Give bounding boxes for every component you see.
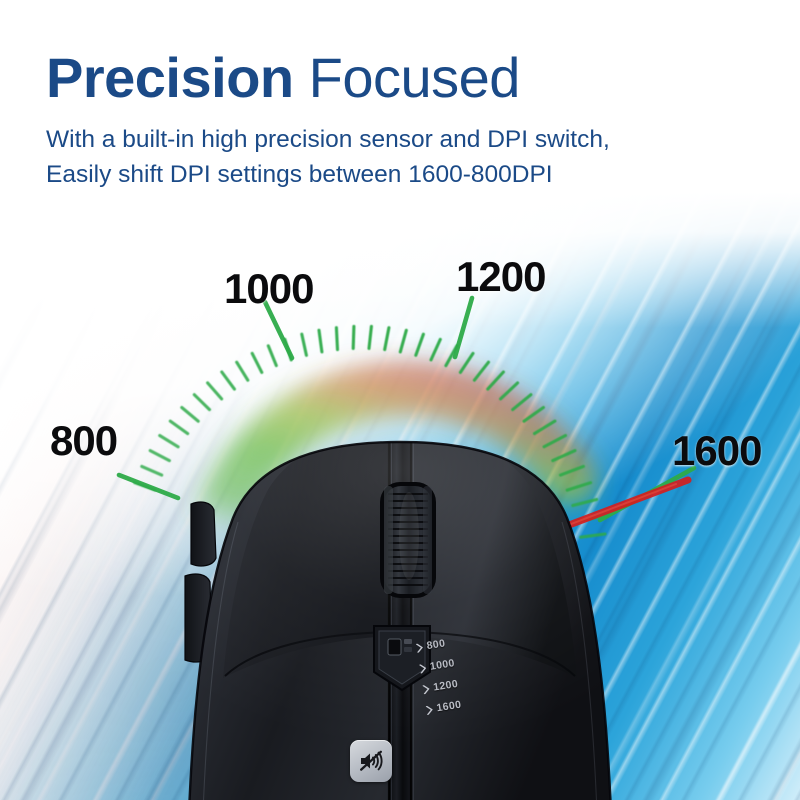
- gauge-major-tick-1200: [455, 298, 472, 357]
- gauge-label-1600: 1600: [672, 430, 761, 472]
- header-copy-block: Precision Focused With a built-in high p…: [46, 48, 766, 193]
- subtitle-block: With a built-in high precision sensor an…: [46, 123, 766, 193]
- mouse-shell: [175, 440, 625, 800]
- dpi-scale-label: 1000: [429, 657, 456, 673]
- headline-light: Focused: [294, 46, 520, 109]
- chevron-right-icon: [415, 642, 423, 652]
- mute-speaker-icon: [358, 748, 384, 774]
- scroll-wheel: [380, 482, 436, 598]
- dpi-scale-step-1200: 1200: [422, 678, 459, 695]
- subtitle-line-2: Easily shift DPI settings between 1600-8…: [46, 158, 766, 193]
- dpi-scale-label: 800: [426, 637, 446, 652]
- chevron-right-icon: [419, 663, 427, 673]
- page-title: Precision Focused: [46, 48, 766, 107]
- chevron-right-icon: [422, 684, 430, 694]
- gauge-major-tick-800: [119, 475, 178, 498]
- wireless-mouse-product-image: [175, 440, 625, 800]
- side-button-forward: [191, 502, 216, 566]
- gauge-label-1200: 1200: [456, 256, 545, 298]
- gauge-label-800: 800: [50, 420, 117, 462]
- chevron-right-icon: [425, 705, 433, 715]
- gauge-label-1000: 1000: [224, 268, 313, 310]
- dpi-scale-label: 1200: [432, 678, 459, 694]
- product-feature-banner: Precision Focused With a built-in high p…: [0, 0, 800, 800]
- dpi-scale-step-1000: 1000: [418, 657, 455, 674]
- headline-strong: Precision: [46, 46, 294, 109]
- subtitle-line-1: With a built-in high precision sensor an…: [46, 123, 766, 158]
- silent-click-badge: [350, 740, 392, 782]
